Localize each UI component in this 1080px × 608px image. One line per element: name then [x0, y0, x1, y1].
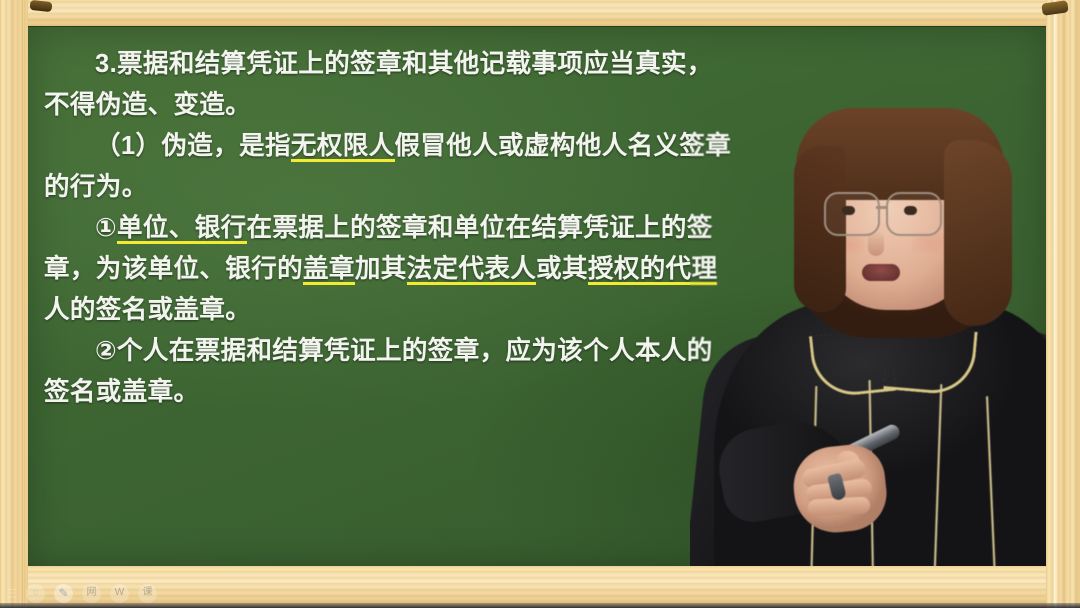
chalk-line: （1）伪造，是指无权限人假冒他人或虚构他人名义签章 — [44, 126, 756, 167]
chalkboard-text: 3.票据和结算凭证上的签章和其他记载事项应当真实，不得伪造、变造。（1）伪造，是… — [44, 44, 756, 413]
mouth — [862, 264, 900, 281]
chalk-line: 3.票据和结算凭证上的签章和其他记载事项应当真实， — [44, 44, 756, 85]
chalk-text: 签名或盖章。 — [44, 378, 199, 406]
underlined-phrase: 盖章 — [303, 255, 355, 285]
chalk-text: 假冒他人或虚构他人名义签章 — [395, 132, 732, 160]
bottom-edge-shadow — [0, 603, 1080, 608]
course-icon: 课 — [138, 584, 157, 603]
board-frame-left — [0, 0, 28, 608]
chalk-line: 章，为该单位、银行的盖章加其法定代表人或其授权的代理 — [44, 249, 756, 290]
underlined-phrase: 法定代表人 — [407, 255, 537, 285]
glasses-bridge — [876, 206, 888, 209]
chalk-line: 签名或盖章。 — [44, 372, 756, 413]
chalk-text: 加其 — [355, 255, 407, 283]
web-icon: 网 — [82, 584, 101, 603]
video-frame: 3.票据和结算凭证上的签章和其他记载事项应当真实，不得伪造、变造。（1）伪造，是… — [0, 0, 1080, 608]
chalk-text: （1）伪造，是指 — [95, 132, 291, 160]
chalk-line: 的行为。 — [44, 167, 756, 208]
eye-right — [904, 206, 917, 215]
w-icon: W — [110, 584, 129, 603]
chalk-text: ① — [95, 214, 117, 242]
chalk-text: 3.票据和结算凭证上的签章和其他记载事项应当真实， — [95, 50, 713, 78]
chalk-text: 或其 — [536, 255, 588, 283]
board-frame-right — [1046, 0, 1080, 608]
chalk-text: 在票据上的签章和单位在结算凭证上的签 — [247, 214, 713, 242]
pencil-icon: ✎ — [54, 584, 73, 603]
chalk-line: ①单位、银行在票据上的签章和单位在结算凭证上的签 — [44, 208, 756, 249]
watermark-text: 三 — [6, 585, 17, 601]
eye-left — [842, 206, 855, 215]
instructor-figure — [690, 84, 1080, 570]
underlined-phrase: 无权限人 — [291, 132, 395, 162]
chalk-text: 不得伪造、变造。 — [44, 91, 251, 119]
board-frame-bottom — [0, 566, 1080, 608]
watermark: 三◌✎网W课 — [6, 582, 157, 604]
chalk-line: 人的签名或盖章。 — [44, 290, 756, 331]
chalk-line: 不得伪造、变造。 — [44, 85, 756, 126]
chalk-text: 的行为。 — [44, 173, 148, 201]
circle-icon: ◌ — [26, 584, 45, 603]
hair-side-right — [944, 140, 1012, 326]
board-frame-top — [0, 0, 1080, 26]
chalk-text: 章，为该单位、银行的 — [44, 255, 303, 283]
chalk-text: ②个人在票据和结算凭证上的签章，应为该个人本人的 — [95, 337, 713, 365]
chalk-text: 人的签名或盖章。 — [44, 296, 251, 324]
underlined-phrase: 单位、银行 — [117, 214, 247, 244]
chalk-line: ②个人在票据和结算凭证上的签章，应为该个人本人的 — [44, 331, 756, 372]
